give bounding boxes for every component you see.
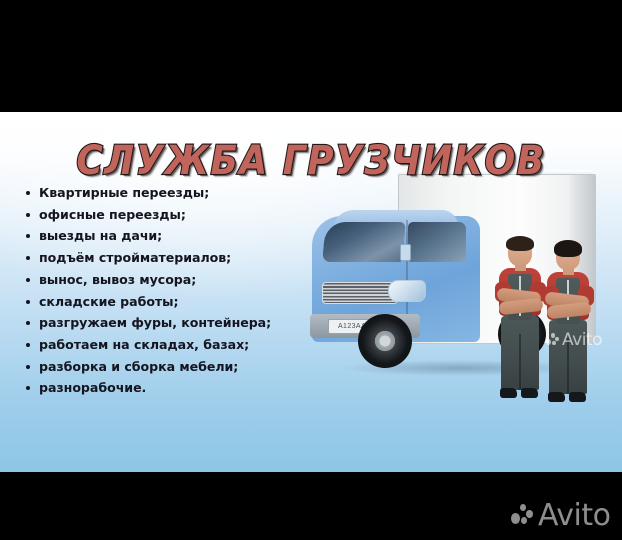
worker-boot (500, 388, 517, 398)
list-item: подъём стройматериалов; (24, 247, 304, 268)
worker-boot (548, 392, 565, 402)
worker-hair (554, 240, 582, 257)
wheel-hub (375, 331, 396, 352)
worker-trousers (549, 320, 587, 394)
services-list: Квартирные переезды; офисные переезды; в… (24, 182, 304, 399)
side-window (408, 222, 466, 262)
worker-boot (521, 388, 538, 398)
list-item: разгружаем фуры, контейнера; (24, 312, 304, 333)
truck-and-workers-illustration: А123АА (302, 164, 622, 464)
worker-hair (506, 236, 534, 251)
list-item: складские работы; (24, 291, 304, 312)
front-grille (322, 282, 398, 304)
front-wheel (358, 314, 412, 368)
letterbox-bar-top (0, 0, 622, 112)
letterbox-bar-bottom (0, 472, 622, 540)
headlamp (388, 280, 426, 302)
list-item: вынос, вывоз мусора; (24, 269, 304, 290)
worker-boot (569, 392, 586, 402)
side-mirror (400, 244, 411, 261)
list-item: работаем на складах, базах; (24, 334, 304, 355)
list-item: разнорабочие. (24, 377, 304, 398)
advert-image: А123АА (0, 112, 622, 472)
list-item: офисные переезды; (24, 204, 304, 225)
list-item: разборка и сборка мебели; (24, 356, 304, 377)
advertisement-poster: А123АА (0, 0, 622, 540)
worker-trousers (501, 316, 539, 390)
windshield (322, 222, 405, 262)
list-item: Квартирные переезды; (24, 182, 304, 203)
list-item: выезды на дачи; (24, 225, 304, 246)
